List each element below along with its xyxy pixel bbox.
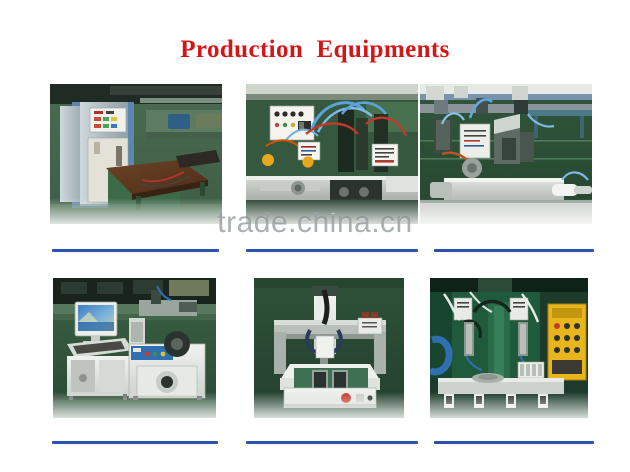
- gallery-cell-3[interactable]: [420, 84, 596, 259]
- cell-divider: [434, 441, 594, 444]
- photo-fade: [50, 198, 222, 224]
- cell-divider: [52, 249, 219, 252]
- cell-divider: [246, 441, 418, 444]
- photo-fade: [420, 198, 592, 224]
- product-photo-pneumatic-assembly[interactable]: [246, 84, 418, 224]
- gallery-cell-5[interactable]: [246, 278, 422, 453]
- photo-fade: [430, 392, 588, 418]
- gallery-cell-2[interactable]: [246, 84, 422, 259]
- cell-divider: [434, 249, 594, 252]
- gallery-cell-4[interactable]: [50, 278, 226, 453]
- product-photo-gantry-robot[interactable]: [254, 278, 404, 418]
- cell-divider: [52, 441, 218, 444]
- product-photo-laser-marker[interactable]: [53, 278, 216, 418]
- gallery-cell-1[interactable]: [50, 84, 226, 259]
- page-title: Production Equipments: [0, 36, 630, 64]
- photo-fade: [53, 392, 216, 418]
- product-photo-green-machine[interactable]: [430, 278, 588, 418]
- product-photo-welding-cabinet[interactable]: [50, 84, 222, 224]
- gallery-row-1: [0, 84, 630, 259]
- photo-fade: [254, 392, 404, 418]
- gallery-cell-6[interactable]: [420, 278, 596, 453]
- gallery-row-2: [0, 278, 630, 453]
- product-image-banner: Production Equipments: [0, 0, 630, 472]
- photo-fade: [246, 198, 418, 224]
- cell-divider: [246, 249, 418, 252]
- product-photo-cylinder-station[interactable]: [420, 84, 592, 224]
